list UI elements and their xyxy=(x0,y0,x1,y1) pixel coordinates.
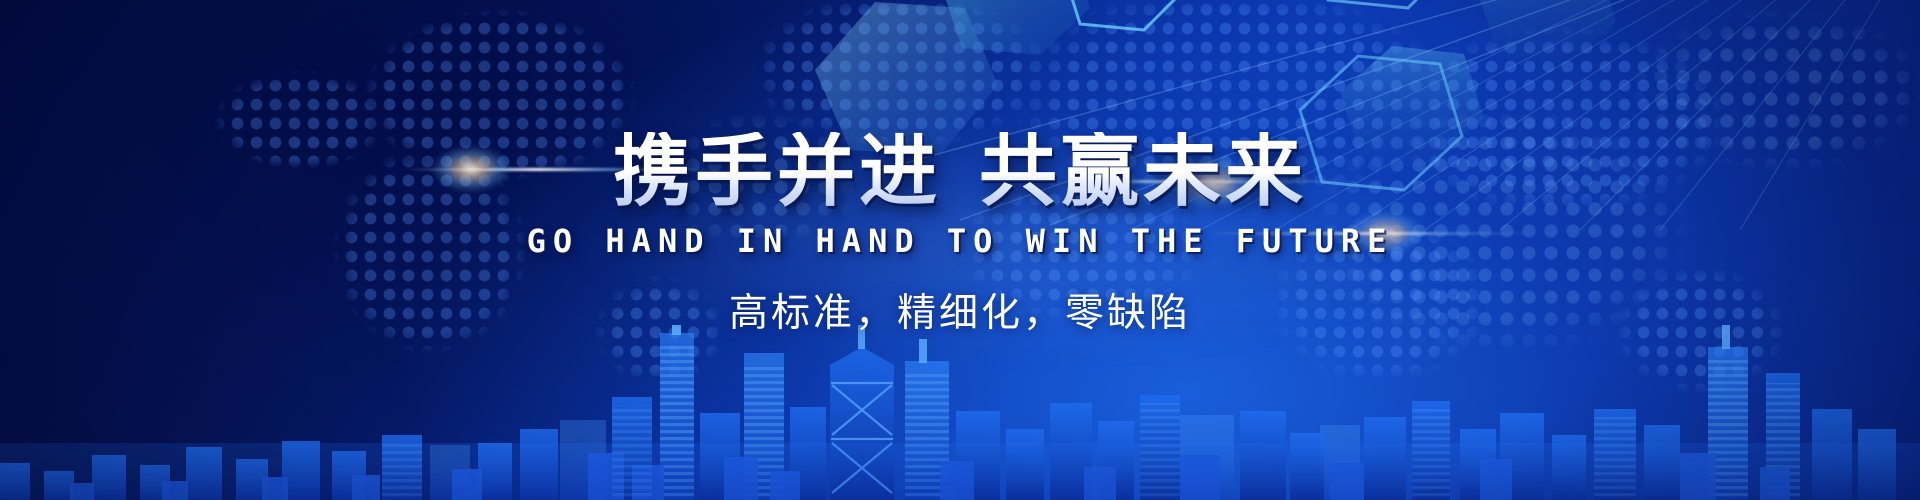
hero-banner: 携手并进共赢未来 GO HAND IN HAND TO WIN THE FUTU… xyxy=(0,0,1920,500)
banner-subtitle-english: GO HAND IN HAND TO WIN THE FUTURE xyxy=(0,222,1920,260)
banner-title-secondary: 共赢未来 xyxy=(979,127,1307,215)
banner-content: 携手并进共赢未来 GO HAND IN HAND TO WIN THE FUTU… xyxy=(0,0,1920,500)
banner-title: 携手并进共赢未来 xyxy=(0,132,1920,210)
banner-tagline: 高标准，精细化，零缺陷 xyxy=(0,282,1920,338)
banner-title-main: 携手并进 xyxy=(613,127,941,215)
